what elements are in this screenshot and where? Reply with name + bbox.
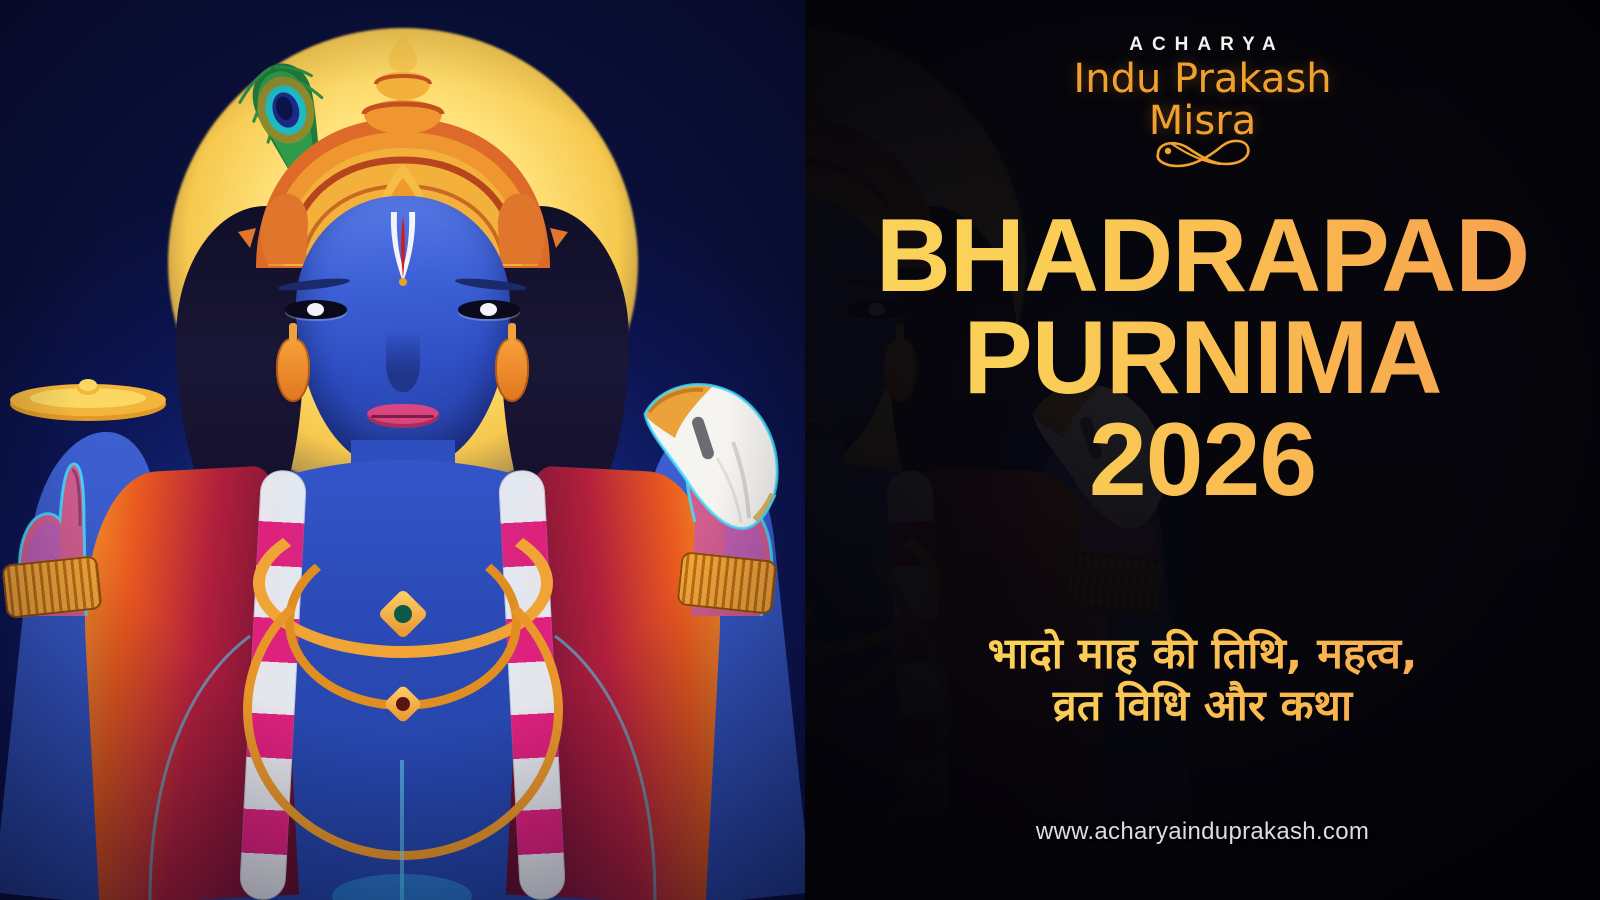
poster-canvas: ACHARYA Indu Prakash Misra BHADRAPAD PUR… [0, 0, 1600, 900]
subtitle-line-2: व्रत विधि और कथा [805, 680, 1600, 732]
website-url[interactable]: www.acharyainduprakash.com [805, 818, 1600, 846]
logo-name-text: Indu Prakash Misra [1038, 58, 1368, 142]
poster-subtitle: भादो माह की तिथि, महत्व, व्रत विधि और कथ… [805, 628, 1600, 733]
title-line-1: BHADRAPAD [805, 206, 1600, 308]
subtitle-line-1: भादो माह की तिथि, महत्व, [805, 628, 1600, 680]
vignette [0, 0, 805, 900]
logo-acharya-text: ACHARYA [1038, 34, 1368, 56]
title-line-2: PURNIMA [805, 308, 1600, 410]
poster-title: BHADRAPAD PURNIMA 2026 [805, 206, 1600, 512]
infinity-flourish-icon [1128, 134, 1278, 172]
title-line-3: 2026 [805, 410, 1600, 512]
brand-logo[interactable]: ACHARYA Indu Prakash Misra [1038, 34, 1368, 177]
text-panel: ACHARYA Indu Prakash Misra BHADRAPAD PUR… [805, 0, 1600, 900]
deity-artwork-panel [0, 0, 805, 900]
